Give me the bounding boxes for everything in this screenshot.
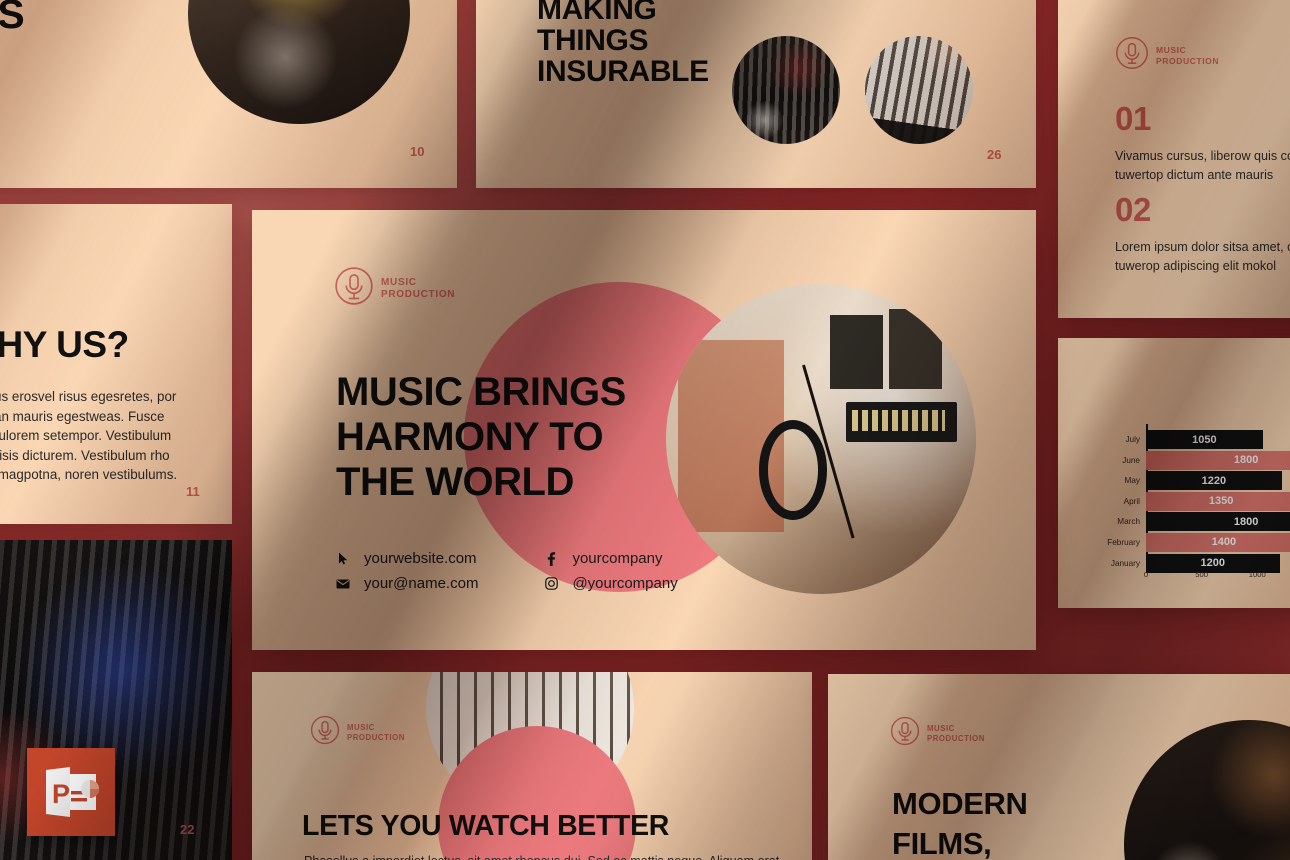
main-title: MUSIC BRINGS HARMONY TO THE WORLD <box>336 370 626 504</box>
modern-films-photo <box>1124 720 1290 860</box>
quote-page-number: 22 <box>180 822 194 837</box>
contact-instagram-value: @yourcompany <box>572 575 677 592</box>
chart-data-label: 1200 <box>1201 557 1225 569</box>
chart-category-label: July <box>1086 435 1146 444</box>
chart-category-label: June <box>1086 456 1146 465</box>
chart-x-ticks: 050010001500 <box>1058 570 1290 586</box>
logo-line-1: MUSIC <box>1156 45 1186 55</box>
chart-row: June1800 <box>1086 451 1290 470</box>
modern-films-title: MODERN FILMS, MODERN <box>892 784 1028 860</box>
chart-bar: 1050 <box>1146 430 1263 449</box>
instagram-icon <box>544 577 558 590</box>
logo-main: MUSIC PRODUCTION <box>334 266 455 311</box>
chart-data-label: 1400 <box>1212 536 1236 548</box>
numbered-item-02: 02 Lorem ipsum dolor sitsa amet, conse t… <box>1115 193 1290 275</box>
watch-better-body: Phasellus a imperdiet lectus, sit amet r… <box>304 852 784 860</box>
insurable-title: MAKING THINGS INSURABLE <box>537 0 709 88</box>
contact-facebook[interactable]: yourcompany <box>544 550 677 567</box>
facebook-icon <box>544 552 558 566</box>
chart-category-label: February <box>1086 538 1146 547</box>
chart-row: March1800 <box>1086 512 1290 531</box>
contact-facebook-value: yourcompany <box>572 550 662 567</box>
logo-line-2: PRODUCTION <box>927 734 985 743</box>
watch-better-title: LETS YOU WATCH BETTER <box>302 812 669 842</box>
about-us-page-number: 10 <box>410 144 424 159</box>
insurable-page-number: 26 <box>987 147 1001 162</box>
slide-modern-films[interactable]: MUSIC PRODUCTION MODERN FILMS, MODERN <box>828 674 1290 860</box>
slide-numbered-points[interactable]: MUSIC PRODUCTION 01 Vivamus cursus, libe… <box>1058 0 1290 318</box>
microphone-circle-icon <box>890 716 920 751</box>
chart-data-label: 1350 <box>1209 495 1233 507</box>
microphone-circle-icon <box>310 715 340 750</box>
logo-line-1: MUSIC <box>347 723 375 732</box>
slide-chart[interactable]: MUSIC PRODUCTION July1050June1800May1220… <box>1058 338 1290 608</box>
logo-line-2: PRODUCTION <box>1156 56 1219 66</box>
why-us-title: WHY US? <box>0 326 129 364</box>
cursor-arrow-icon <box>336 552 350 565</box>
microphone-circle-icon <box>334 266 374 311</box>
chart-category-label: March <box>1086 517 1146 526</box>
contact-instagram[interactable]: @yourcompany <box>544 575 677 592</box>
chart-category-label: May <box>1086 476 1146 485</box>
contact-website[interactable]: yourwebsite.com <box>336 550 478 567</box>
insurable-photo-3 <box>732 36 840 144</box>
contact-group-left: yourwebsite.com your@name.com <box>336 550 478 592</box>
slide-making-things-insurable[interactable]: MAKING THINGS INSURABLE 26 <box>476 0 1036 188</box>
logo-line-1: MUSIC <box>927 724 955 733</box>
logo-modern-films: MUSIC PRODUCTION <box>890 716 985 751</box>
envelope-icon <box>336 579 350 589</box>
about-us-title: ABOUT US <box>0 0 24 36</box>
slide-why-us[interactable]: WHY US? a luctus erosvel risus egesretes… <box>0 204 232 524</box>
microphone-circle-icon <box>1115 36 1149 75</box>
logo-line-2: PRODUCTION <box>381 289 455 300</box>
slide-about-us[interactable]: ABOUT US us erosvel risus egesretes, por… <box>0 0 457 188</box>
contact-website-value: yourwebsite.com <box>364 550 477 567</box>
chart-data-label: 1220 <box>1202 475 1226 487</box>
numbered-02-number: 02 <box>1115 193 1290 227</box>
bar-chart: July1050June1800May1220April1350March180… <box>1058 338 1290 608</box>
chart-x-tick: 500 <box>1195 570 1208 579</box>
numbered-02-text: Lorem ipsum dolor sitsa amet, conse tuwe… <box>1115 238 1290 275</box>
chart-bar-rows: July1050June1800May1220April1350March180… <box>1086 430 1290 574</box>
numbered-01-text: Vivamus cursus, liberow quis condim tuwe… <box>1115 147 1290 184</box>
chart-data-label: 1800 <box>1234 454 1258 466</box>
chart-data-label: 1800 <box>1234 516 1258 528</box>
insurable-photo-4 <box>865 36 973 144</box>
contact-email[interactable]: your@name.com <box>336 575 478 592</box>
numbered-item-01: 01 Vivamus cursus, liberow quis condim t… <box>1115 102 1290 184</box>
chart-x-tick: 1000 <box>1249 570 1266 579</box>
chart-bar: 1800 <box>1146 512 1290 531</box>
chart-bar: 1400 <box>1146 533 1290 552</box>
numbered-01-number: 01 <box>1115 102 1290 136</box>
powerpoint-file-badge[interactable]: P <box>27 748 115 836</box>
chart-bar: 1800 <box>1146 451 1290 470</box>
main-photo <box>666 284 976 594</box>
chart-category-label: January <box>1086 559 1146 568</box>
chart-category-label: April <box>1086 497 1146 506</box>
logo-line-2: PRODUCTION <box>347 733 405 742</box>
chart-data-label: 1050 <box>1192 434 1216 446</box>
slide-main-title[interactable]: MUSIC PRODUCTION MUSIC BRINGS HARMONY TO… <box>252 210 1036 650</box>
chart-row: May1220 <box>1086 471 1290 490</box>
chart-bar: 1220 <box>1146 471 1282 490</box>
why-us-body: a luctus erosvel risus egesretes, por cu… <box>0 387 232 485</box>
contact-block: yourwebsite.com your@name.com yourcompan… <box>336 550 678 592</box>
chart-row: April1350 <box>1086 492 1290 511</box>
contact-group-right: yourcompany @yourcompany <box>544 550 677 592</box>
slide-watch-better[interactable]: MUSIC PRODUCTION LETS YOU WATCH BETTER P… <box>252 672 812 860</box>
chart-x-tick: 0 <box>1144 570 1148 579</box>
logo-watch-better: MUSIC PRODUCTION <box>310 715 405 750</box>
chart-bar: 1350 <box>1146 492 1290 511</box>
logo-line-1: MUSIC <box>381 277 417 288</box>
logo-numbered: MUSIC PRODUCTION <box>1115 36 1219 75</box>
why-us-page-number: 11 <box>186 484 200 499</box>
powerpoint-icon: P <box>43 767 99 817</box>
about-us-photo <box>188 0 410 124</box>
svg-text:P: P <box>52 779 70 809</box>
chart-row: February1400 <box>1086 533 1290 552</box>
contact-email-value: your@name.com <box>364 575 478 592</box>
chart-row: July1050 <box>1086 430 1290 449</box>
about-us-body: us erosvel risus egesretes, por san maur… <box>0 60 174 158</box>
